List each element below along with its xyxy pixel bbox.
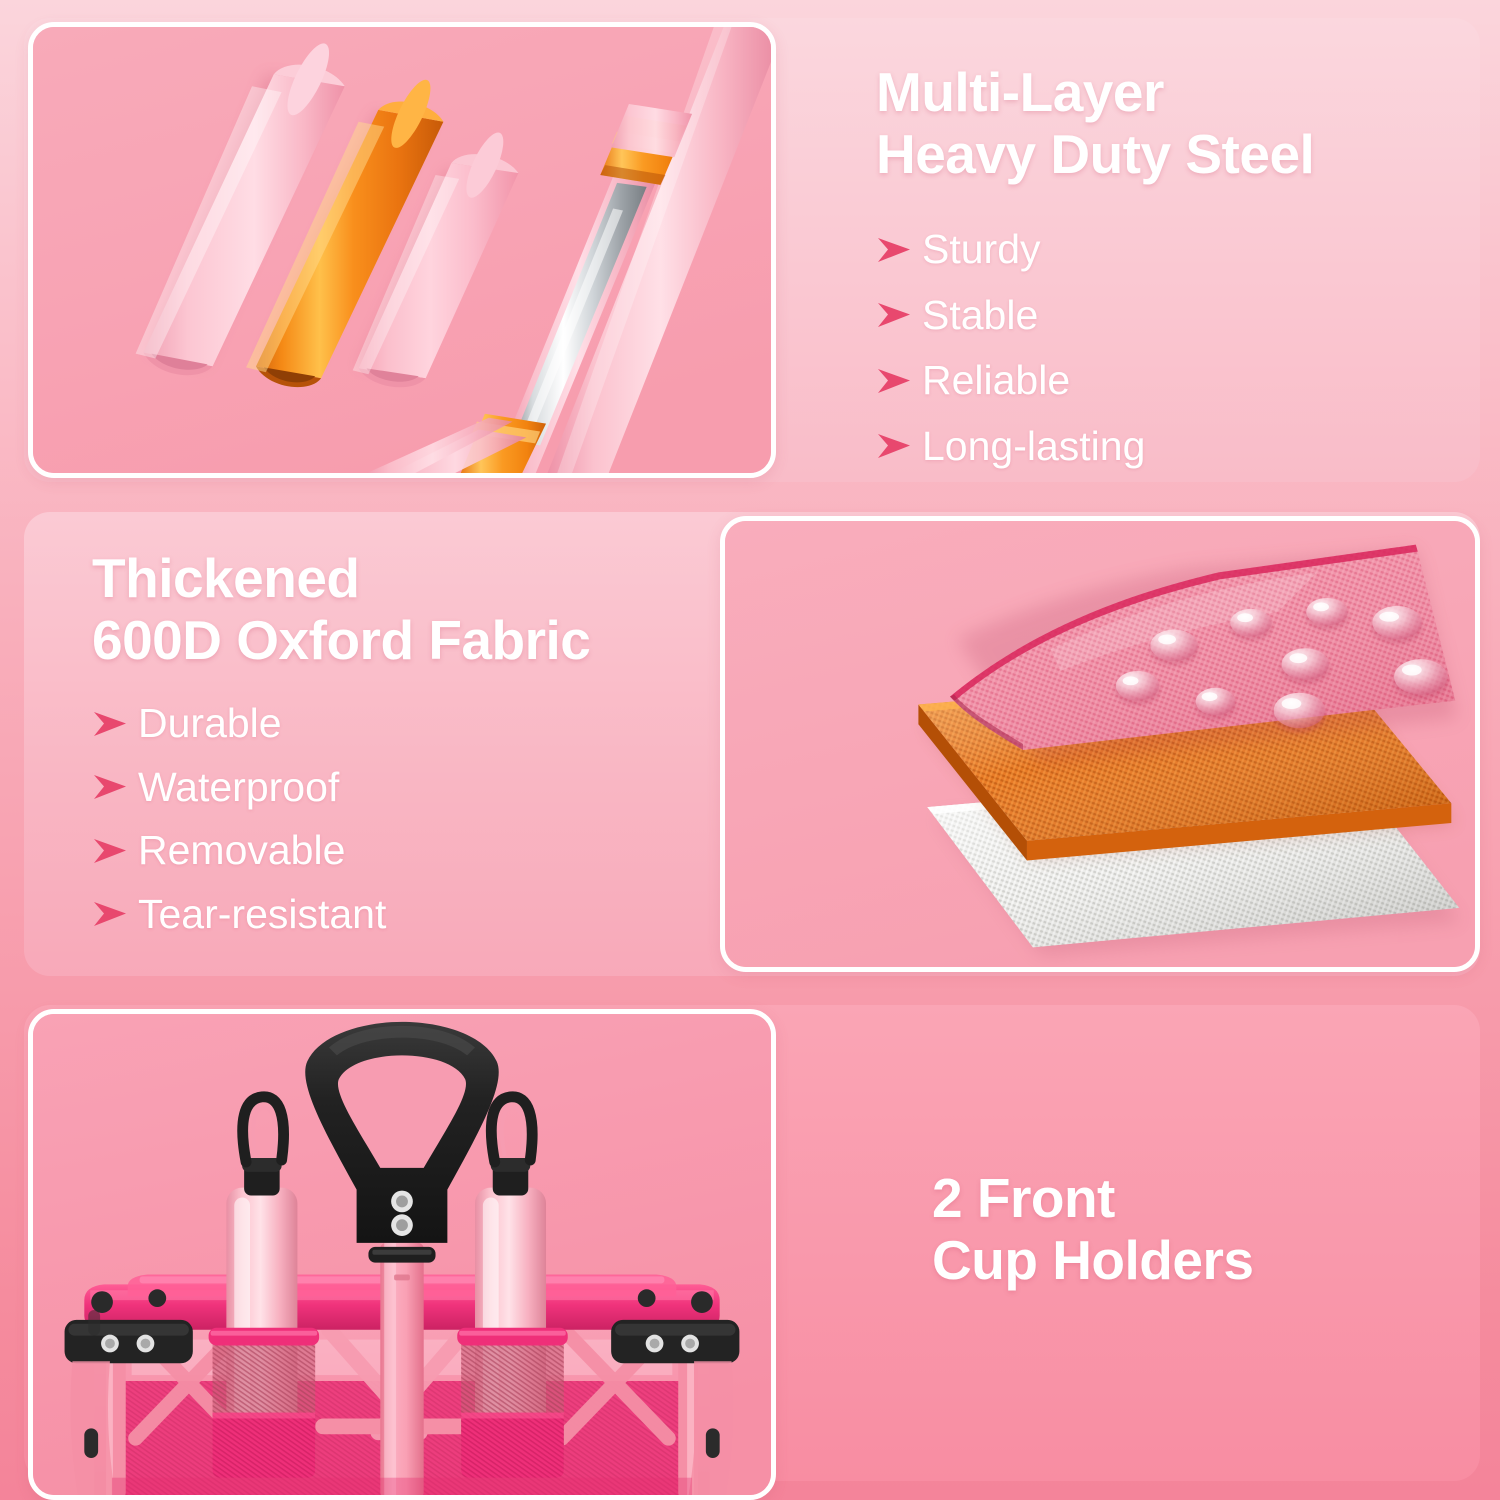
cup-headline-line-1: 2 Front <box>932 1167 1115 1229</box>
feature-label: Removable <box>138 820 345 882</box>
feature-label: Sturdy <box>922 219 1041 281</box>
steel-feature-list: Sturdy Stable Reliable Long-lasting <box>876 219 1436 477</box>
arrow-right-icon <box>876 361 922 401</box>
fabric-headline: Thickened 600D Oxford Fabric <box>92 548 672 671</box>
fabric-text-block: Thickened 600D Oxford Fabric Durable Wat… <box>92 548 672 947</box>
feature-label: Stable <box>922 285 1038 347</box>
cup-holders-image-card <box>28 1009 776 1500</box>
steel-text-block: Multi-Layer Heavy Duty Steel Sturdy Stab… <box>876 62 1436 481</box>
feature-label: Reliable <box>922 350 1070 412</box>
steel-headline-line-2: Heavy Duty Steel <box>876 123 1314 185</box>
list-item: Stable <box>876 285 1436 347</box>
wagon-cup-holders-photo <box>33 1014 771 1498</box>
cup-headline-line-2: Cup Holders <box>932 1229 1253 1291</box>
list-item: Durable <box>92 693 672 755</box>
arrow-right-icon <box>876 426 922 466</box>
fabric-feature-list: Durable Waterproof Removable Tear-resist… <box>92 693 672 945</box>
oxford-fabric-layers-illustration <box>725 521 1475 971</box>
list-item: Sturdy <box>876 219 1436 281</box>
fabric-layers-image-card <box>720 516 1480 972</box>
list-item: Waterproof <box>92 757 672 819</box>
list-item: Removable <box>92 820 672 882</box>
list-item: Reliable <box>876 350 1436 412</box>
list-item: Long-lasting <box>876 416 1436 478</box>
arrow-right-icon <box>92 831 138 871</box>
steel-headline: Multi-Layer Heavy Duty Steel <box>876 62 1436 185</box>
feature-label: Waterproof <box>138 757 339 819</box>
feature-label: Durable <box>138 693 282 755</box>
corner-bracket-right <box>611 1320 739 1363</box>
cup-headline: 2 Front Cup Holders <box>932 1168 1452 1291</box>
feature-label: Tear-resistant <box>138 884 386 946</box>
cup-text-block: 2 Front Cup Holders <box>932 1168 1452 1291</box>
steel-tube-image-card <box>28 22 776 478</box>
arrow-right-icon <box>92 767 138 807</box>
arrow-right-icon <box>876 295 922 335</box>
fabric-headline-line-2: 600D Oxford Fabric <box>92 609 590 671</box>
infographic-page: Multi-Layer Heavy Duty Steel Sturdy Stab… <box>0 0 1500 1500</box>
steel-headline-line-1: Multi-Layer <box>876 61 1164 123</box>
feature-label: Long-lasting <box>922 416 1145 478</box>
fabric-headline-line-1: Thickened <box>92 547 360 609</box>
arrow-right-icon <box>876 230 922 270</box>
arrow-right-icon <box>92 704 138 744</box>
arrow-right-icon <box>92 894 138 934</box>
list-item: Tear-resistant <box>92 884 672 946</box>
steel-tube-layers-illustration <box>33 27 771 477</box>
corner-bracket-left <box>65 1320 193 1363</box>
